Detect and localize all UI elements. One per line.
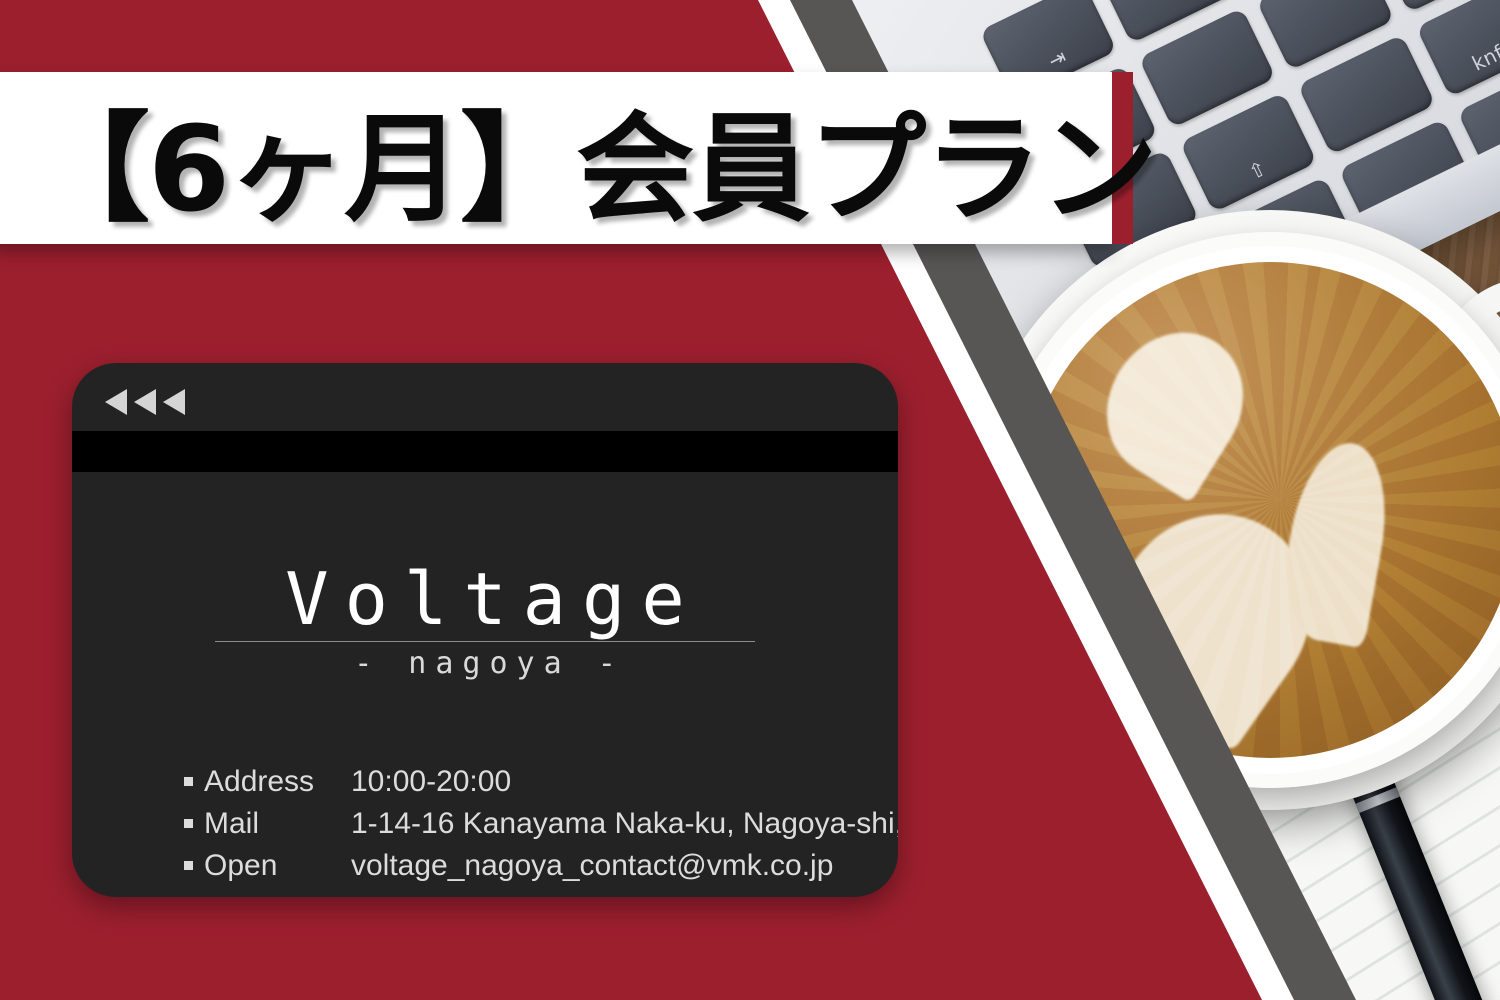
info-label: Mail (204, 803, 351, 845)
info-value: 1-14-16 Kanayama Naka-ku, Nagoya-shi, Ai… (351, 803, 898, 845)
info-label: Address (204, 761, 351, 803)
spiral-coil (1111, 831, 1176, 877)
spiral-coil (1087, 777, 1152, 823)
card-brand-block: Voltage - nagoya - (72, 563, 898, 681)
card-info-list: Address 10:00-20:00 Mail 1-14-16 Kanayam… (184, 761, 884, 887)
info-value: 10:00-20:00 (351, 761, 884, 803)
triangle-left-icon (163, 389, 185, 415)
square-bullet-icon (184, 861, 193, 870)
card-info-row: Mail 1-14-16 Kanayama Naka-ku, Nagoya-sh… (184, 803, 884, 845)
card-magnetic-stripe (72, 431, 898, 472)
card-info-row: Open voltage_nagoya_contact@vmk.co.jp (184, 845, 884, 887)
brand-divider (215, 641, 755, 642)
info-label: Open (204, 845, 351, 887)
membership-card: Voltage - nagoya - Address 10:00-20:00 M… (72, 363, 898, 897)
brand-subtitle: - nagoya - (72, 646, 898, 681)
page-title: 【6ヶ月】会員プラン (32, 78, 1102, 238)
spiral-coil (1135, 885, 1200, 931)
latte-art-leaf-icon (1273, 436, 1398, 649)
triangle-left-icon (105, 389, 127, 415)
card-info-row: Address 10:00-20:00 (184, 761, 884, 803)
spiral-coil (1063, 724, 1128, 770)
spiral-coil (1039, 670, 1104, 716)
info-value: voltage_nagoya_contact@vmk.co.jp (351, 845, 884, 887)
square-bullet-icon (184, 819, 193, 828)
card-arrow-indicators (105, 389, 185, 415)
latte-art-heart-icon (1080, 307, 1270, 503)
square-bullet-icon (184, 777, 193, 786)
brand-name: Voltage (72, 563, 898, 635)
spiral-coil (1159, 938, 1224, 984)
keyboard-key: knfn (1416, 0, 1500, 97)
triangle-left-icon (134, 389, 156, 415)
spiral-coil (1183, 992, 1248, 1000)
promotional-banner-canvas: ⇥ Z ⌫ ^v alt ⇧ knfn fn (0, 0, 1500, 1000)
